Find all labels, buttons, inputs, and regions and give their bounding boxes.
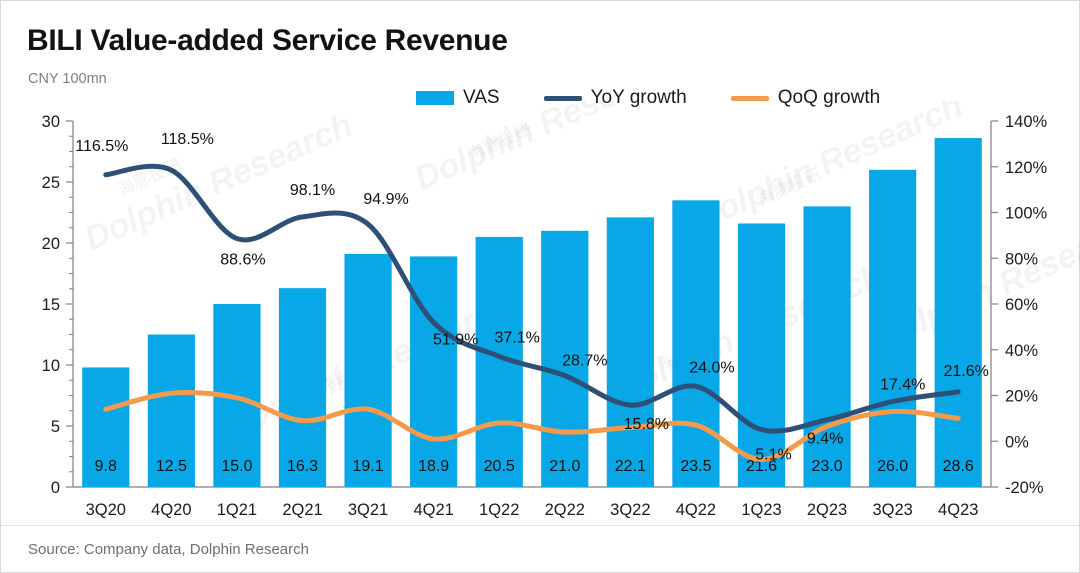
bar-value-label: 20.5 (484, 458, 515, 475)
y-tick-label-right: 100% (1005, 205, 1048, 223)
bar[interactable] (869, 170, 916, 487)
yoy-value-label: 51.9% (433, 332, 478, 349)
y-tick-label-right: 80% (1005, 250, 1038, 268)
yoy-value-label: 98.1% (290, 182, 335, 199)
bar-value-label: 22.1 (615, 458, 646, 475)
bar[interactable] (607, 217, 654, 487)
source-note: Source: Company data, Dolphin Research (28, 541, 309, 558)
x-tick-label: 4Q22 (676, 501, 716, 519)
bar-value-label: 9.8 (95, 458, 117, 475)
yoy-value-label: 118.5% (161, 131, 214, 148)
y-tick-label-left: 5 (51, 418, 60, 436)
y-tick-label-right: -20% (1005, 479, 1044, 497)
x-tick-label: 2Q23 (807, 501, 847, 519)
chart-page: BILI Value-added Service Revenue CNY 100… (0, 0, 1080, 573)
yoy-value-label: 24.0% (689, 359, 734, 376)
x-tick-label: 1Q21 (217, 501, 257, 519)
y-tick-label-right: 120% (1005, 159, 1048, 177)
bar-value-label: 15.0 (221, 458, 252, 475)
x-tick-label: 3Q22 (610, 501, 650, 519)
bar[interactable] (410, 256, 457, 487)
page-title: BILI Value-added Service Revenue (27, 24, 508, 58)
bar-value-label: 21.0 (549, 458, 580, 475)
legend-swatch-yoy (544, 96, 582, 101)
y-tick-label-right: 60% (1005, 296, 1038, 314)
bar-value-label: 23.0 (812, 458, 843, 475)
x-tick-label: 3Q23 (872, 501, 912, 519)
svg-text:Dolphin Research: Dolphin Research (409, 101, 689, 198)
y-tick-label-left: 20 (42, 235, 60, 253)
bar-value-label: 19.1 (353, 458, 384, 475)
x-tick-label: 3Q21 (348, 501, 388, 519)
x-tick-label: 2Q21 (282, 501, 322, 519)
yoy-value-label: 9.4% (807, 431, 843, 448)
x-tick-label: 4Q20 (151, 501, 191, 519)
bar[interactable] (672, 200, 719, 487)
bar[interactable] (935, 138, 982, 487)
y-tick-label-right: 40% (1005, 342, 1038, 360)
bar[interactable] (344, 254, 391, 487)
yoy-value-label: 116.5% (75, 138, 128, 155)
y-tick-label-left: 30 (42, 113, 60, 131)
yoy-value-label: 5.1% (755, 447, 791, 464)
y-tick-label-right: 20% (1005, 388, 1038, 406)
x-tick-label: 3Q20 (86, 501, 126, 519)
y-tick-label-right: 140% (1005, 113, 1048, 131)
yoy-value-label: 17.4% (880, 376, 925, 393)
bar-value-label: 12.5 (156, 458, 187, 475)
y-tick-label-left: 0 (51, 479, 60, 497)
bar-value-label: 16.3 (287, 458, 318, 475)
yoy-value-label: 21.6% (944, 363, 989, 380)
bar-value-label: 18.9 (418, 458, 449, 475)
footer-divider (1, 525, 1080, 526)
chart-svg: Dolphin ResearchDolphin ResearchDolphin … (1, 101, 1080, 521)
yoy-value-label: 37.1% (495, 329, 540, 346)
x-tick-label: 1Q23 (741, 501, 781, 519)
x-tick-label: 1Q22 (479, 501, 519, 519)
y-tick-label-left: 10 (42, 357, 60, 375)
yoy-value-label: 15.8% (624, 416, 669, 433)
yoy-value-label: 88.6% (220, 252, 265, 269)
x-tick-label: 4Q23 (938, 501, 978, 519)
y-tick-label-right: 0% (1005, 433, 1029, 451)
yoy-value-label: 94.9% (363, 191, 408, 208)
bar-value-label: 26.0 (877, 458, 908, 475)
bar-value-label: 28.6 (943, 458, 974, 475)
x-tick-label: 2Q22 (545, 501, 585, 519)
chart-area: Dolphin ResearchDolphin ResearchDolphin … (1, 101, 1080, 521)
y-tick-label-left: 15 (42, 296, 60, 314)
yoy-value-label: 28.7% (562, 353, 607, 370)
bar-value-label: 23.5 (680, 458, 711, 475)
legend-swatch-qoq (731, 96, 769, 101)
x-tick-label: 4Q21 (413, 501, 453, 519)
unit-label: CNY 100mn (28, 71, 107, 87)
y-tick-label-left: 25 (42, 174, 60, 192)
